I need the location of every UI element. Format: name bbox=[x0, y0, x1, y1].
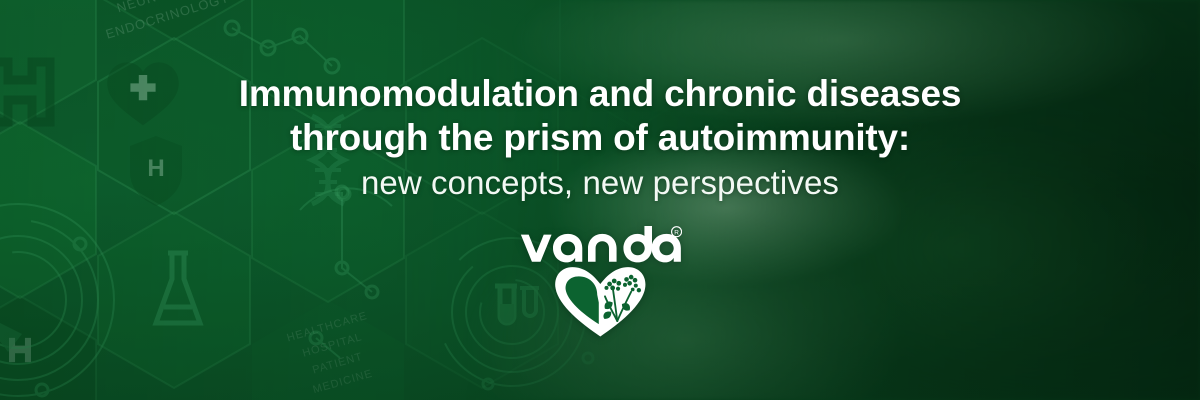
title-line-1: Immunomodulation and chronic diseases bbox=[239, 72, 961, 116]
heart-snake-botanical-emblem-icon bbox=[551, 264, 650, 338]
registered-trademark-icon: R bbox=[671, 227, 681, 237]
subtitle-line: new concepts, new perspectives bbox=[239, 160, 961, 206]
vanda-wordmark-icon: R bbox=[518, 226, 682, 266]
vanda-logo[interactable]: R bbox=[518, 226, 682, 338]
svg-text:R: R bbox=[674, 230, 679, 237]
title-block: Immunomodulation and chronic diseases th… bbox=[239, 72, 961, 206]
banner-content: Immunomodulation and chronic diseases th… bbox=[0, 0, 1200, 400]
conference-banner: H bbox=[0, 0, 1200, 400]
title-line-2: through the prism of autoimmunity: bbox=[239, 116, 961, 160]
